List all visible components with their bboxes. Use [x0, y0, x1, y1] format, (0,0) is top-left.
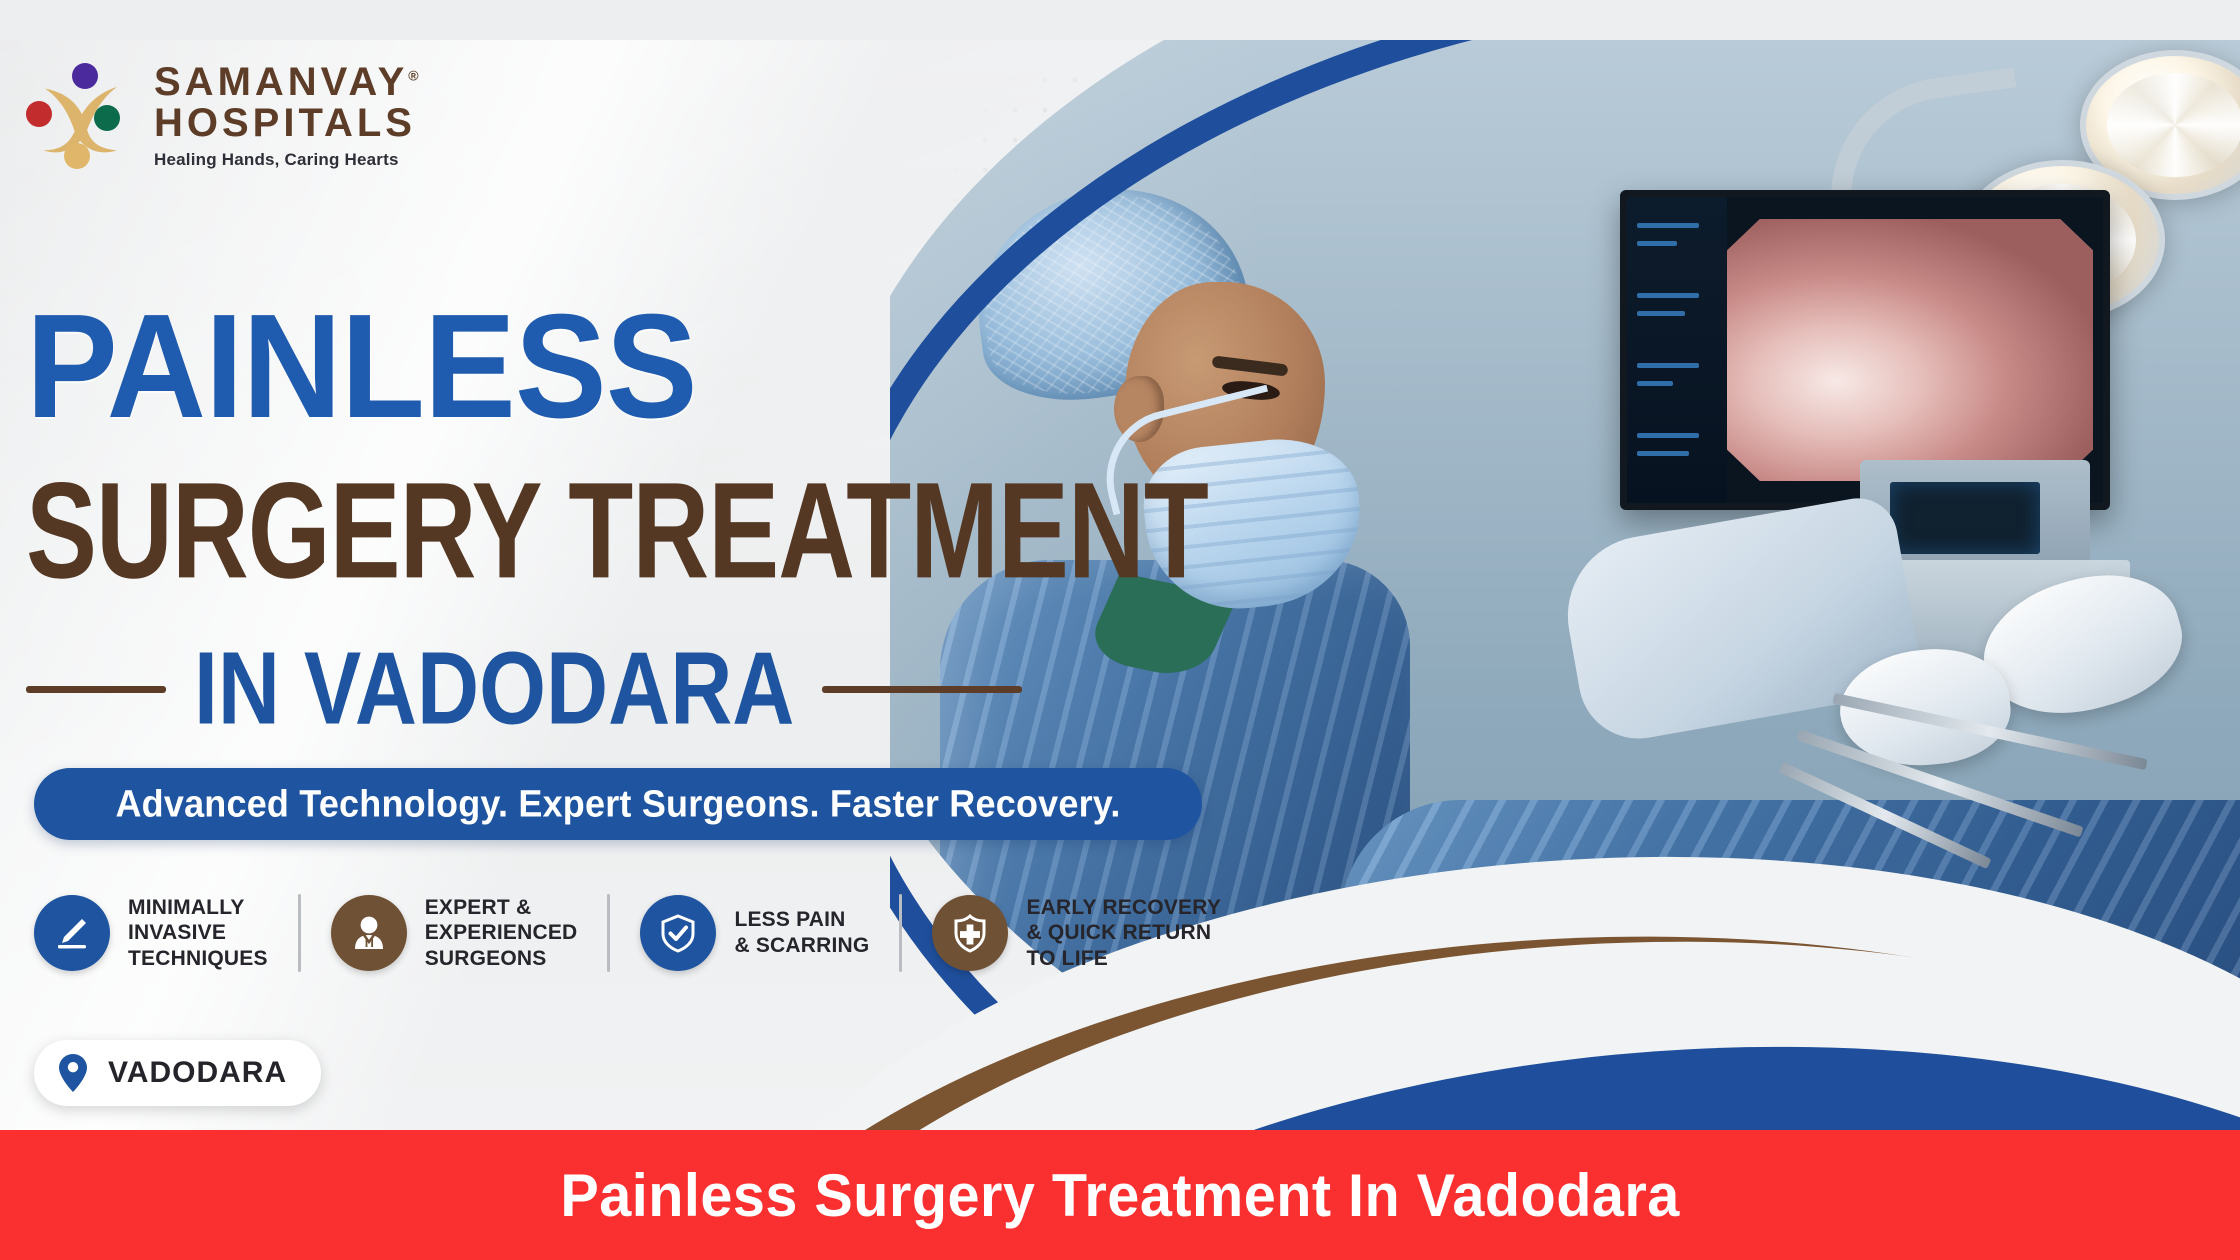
shield-plus-icon	[932, 895, 1008, 971]
tagline-banner: Advanced Technology. Expert Surgeons. Fa…	[34, 768, 1202, 840]
footer-bar: Painless Surgery Treatment In Vadodara	[0, 1130, 2240, 1260]
surgical-instrument-icon	[1778, 762, 1991, 869]
map-pin-icon	[58, 1053, 88, 1093]
doctor-icon	[331, 895, 407, 971]
location-pill[interactable]: VADODARA	[34, 1040, 321, 1106]
feature-item-early-recovery: EARLY RECOVERY & QUICK RETURN TO LIFE	[932, 895, 1221, 972]
assistant-hands	[1570, 510, 2210, 930]
footer-title: Painless Surgery Treatment In Vadodara	[560, 1161, 1679, 1230]
samanvay-swirl-figures-icon	[22, 59, 132, 169]
feature-item-minimally-invasive: MINIMALLY INVASIVE TECHNIQUES	[34, 895, 268, 972]
dash-right-decoration	[822, 686, 1022, 693]
brand-logo[interactable]: SAMANVAY® HOSPITALS Healing Hands, Carin…	[22, 58, 419, 170]
shield-check-icon	[640, 895, 716, 971]
logo-dot-green	[94, 105, 120, 131]
logo-dot-tan	[64, 143, 90, 169]
scalpel-icon	[34, 895, 110, 971]
feature-divider	[899, 894, 902, 972]
feature-item-expert-surgeons: EXPERT & EXPERIENCED SURGEONS	[331, 895, 578, 972]
hero-banner: SAMANVAY® HOSPITALS Healing Hands, Carin…	[0, 40, 2240, 1130]
feature-divider	[607, 894, 610, 972]
dash-left-decoration	[26, 686, 166, 693]
logo-name-line2: HOSPITALS	[154, 103, 419, 144]
page-root: SAMANVAY® HOSPITALS Healing Hands, Carin…	[0, 0, 2240, 1260]
logo-tagline: Healing Hands, Caring Hearts	[154, 150, 419, 170]
feature-label: EXPERT & EXPERIENCED SURGEONS	[425, 895, 578, 972]
headline-line-3-row: IN VADODARA	[26, 640, 1216, 739]
top-strip	[0, 0, 2240, 40]
headline-line-3: IN VADODARA	[194, 630, 794, 749]
feature-label: MINIMALLY INVASIVE TECHNIQUES	[128, 895, 268, 972]
feature-divider	[298, 894, 301, 972]
location-label: VADODARA	[108, 1056, 287, 1090]
feature-list: MINIMALLY INVASIVE TECHNIQUES EXPERT &	[34, 878, 1264, 988]
registered-mark: ®	[408, 68, 418, 84]
feature-item-less-pain: LESS PAIN & SCARRING	[640, 895, 869, 971]
logo-dot-red	[26, 101, 52, 127]
feature-label: LESS PAIN & SCARRING	[734, 907, 869, 958]
feature-label: EARLY RECOVERY & QUICK RETURN TO LIFE	[1026, 895, 1221, 972]
headline-line-1: PAINLESS	[26, 302, 697, 432]
tagline-text: Advanced Technology. Expert Surgeons. Fa…	[115, 782, 1120, 827]
logo-dot-purple	[72, 63, 98, 89]
logo-name-line1: SAMANVAY®	[154, 62, 419, 103]
hero-content: SAMANVAY® HOSPITALS Healing Hands, Carin…	[0, 40, 1300, 1130]
monitor-sidebar	[1627, 197, 1727, 503]
headline-line-2: SURGERY TREATMENT	[26, 470, 1208, 593]
endoscopic-feed	[1727, 219, 2093, 481]
